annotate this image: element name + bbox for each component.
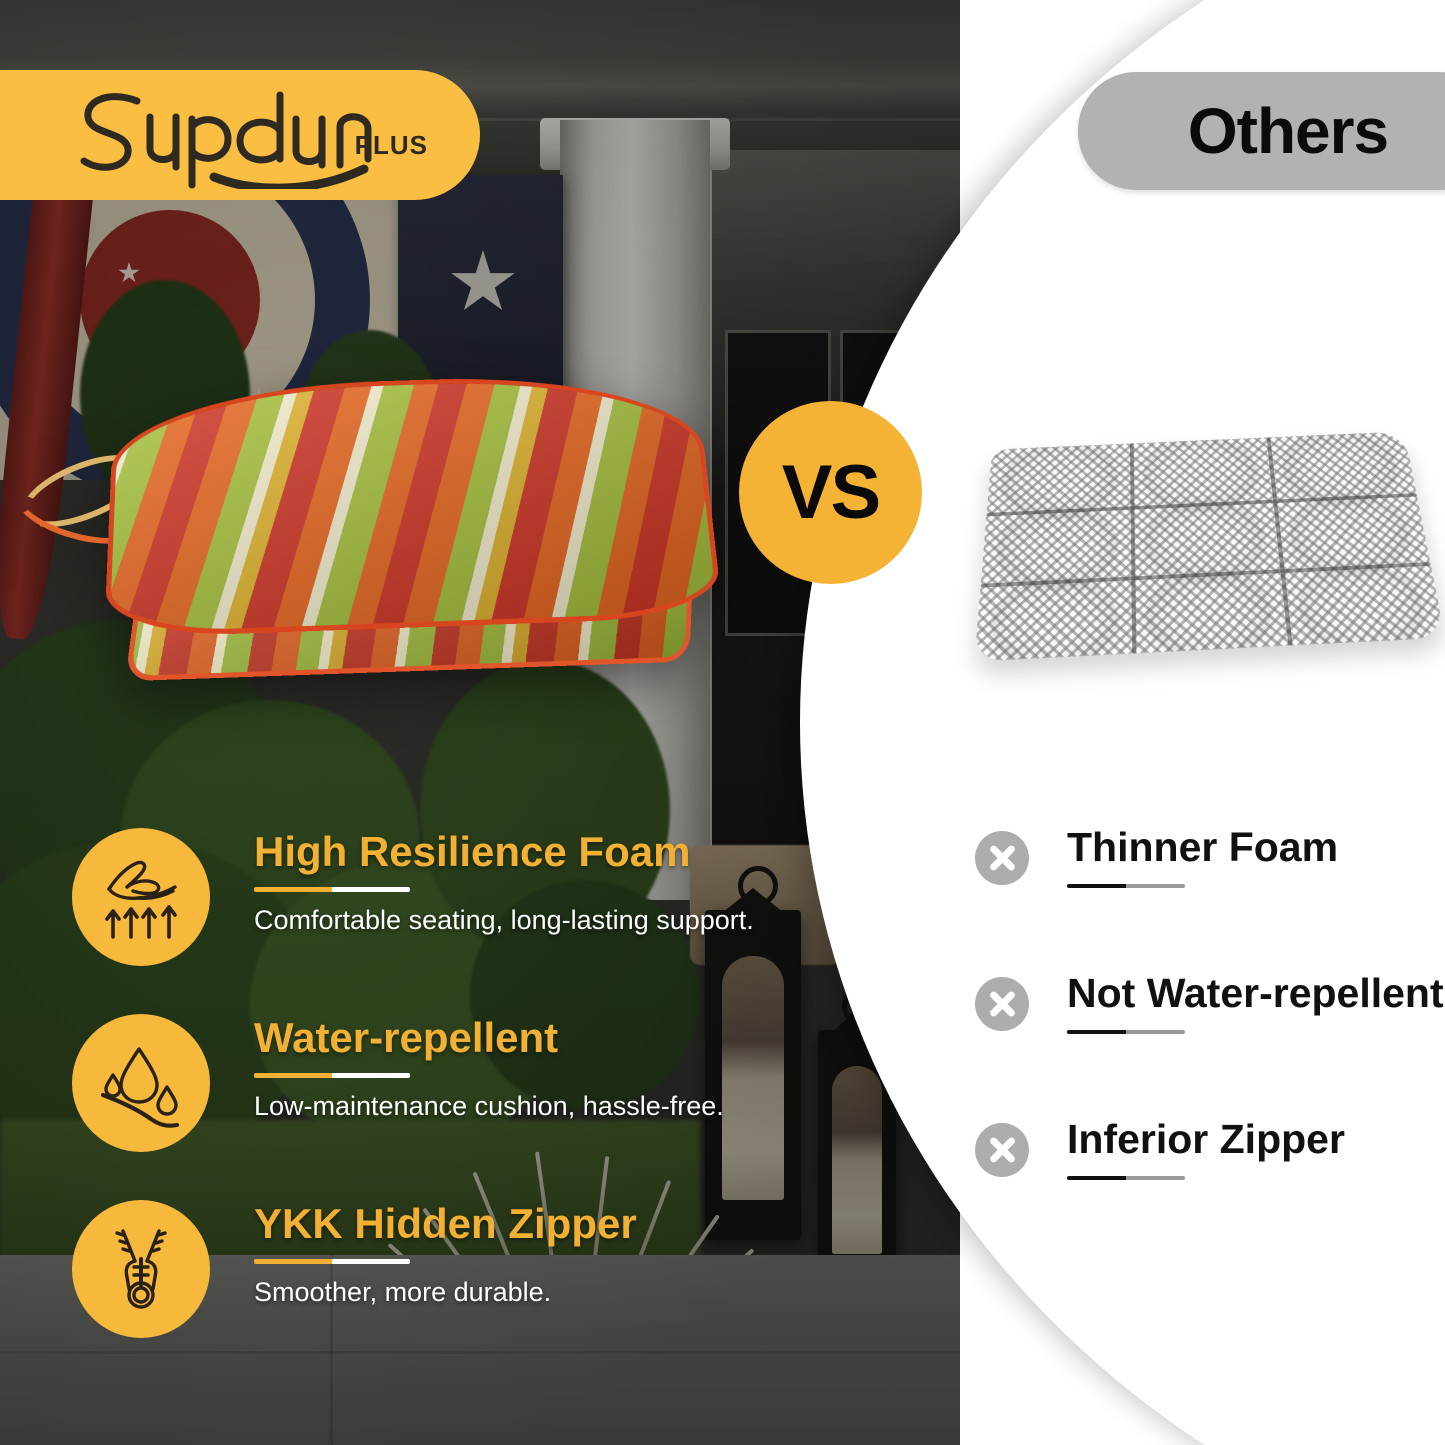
others-label: Others xyxy=(1188,94,1388,168)
con-title: Not Water-repellent xyxy=(1067,971,1445,1016)
con-text-block: Inferior Zipper xyxy=(1067,1117,1445,1180)
feature-divider xyxy=(254,887,410,892)
other-cushion-body xyxy=(974,431,1445,661)
con-title: Inferior Zipper xyxy=(1067,1117,1445,1162)
con-item-inferior-zipper: Inferior Zipper xyxy=(975,1117,1445,1263)
con-title: Thinner Foam xyxy=(1067,825,1445,870)
feature-item-ykk-hidden-zipper: YKK Hidden Zipper Smoother, more durable… xyxy=(72,1192,772,1378)
feature-description: Smoother, more durable. xyxy=(254,1276,774,1308)
cushion-top-surface xyxy=(104,371,723,639)
vs-badge: VS xyxy=(739,401,922,584)
con-text-block: Thinner Foam xyxy=(1067,825,1445,888)
others-badge: Others xyxy=(1078,72,1445,190)
feature-text-block: YKK Hidden Zipper Smoother, more durable… xyxy=(254,1202,774,1308)
feature-text-block: Water-repellent Low-maintenance cushion,… xyxy=(254,1016,774,1122)
water-droplet-repel-icon xyxy=(72,1014,210,1152)
feature-list: High Resilience Foam Comfortable seating… xyxy=(72,820,772,1378)
zipper-icon xyxy=(72,1200,210,1338)
con-divider xyxy=(1067,1030,1185,1034)
feature-divider xyxy=(254,1259,410,1264)
supdun-cushion-image xyxy=(110,375,720,705)
hand-support-arrows-icon xyxy=(72,828,210,966)
competitor-con-list: Thinner Foam Not Water-repellent Inferio… xyxy=(975,825,1445,1263)
brand-logo-badge: PLUS xyxy=(0,70,480,200)
feature-item-high-resilience-foam: High Resilience Foam Comfortable seating… xyxy=(72,820,772,1006)
feature-title: YKK Hidden Zipper xyxy=(254,1202,774,1246)
feature-description: Comfortable seating, long-lasting suppor… xyxy=(254,904,774,936)
circle-x-icon xyxy=(975,977,1029,1031)
brand-logo-mark: PLUS xyxy=(64,81,424,189)
feature-text-block: High Resilience Foam Comfortable seating… xyxy=(254,830,774,936)
feature-title: Water-repellent xyxy=(254,1016,774,1060)
con-text-block: Not Water-repellent xyxy=(1067,971,1445,1034)
con-item-thinner-foam: Thinner Foam xyxy=(975,825,1445,971)
comparison-infographic: PLUS Others xyxy=(0,0,1445,1445)
con-divider xyxy=(1067,1176,1185,1180)
brand-logo-suffix: PLUS xyxy=(355,130,428,161)
circle-x-icon xyxy=(975,831,1029,885)
feature-description: Low-maintenance cushion, hassle-free. xyxy=(254,1090,774,1122)
con-divider xyxy=(1067,884,1185,888)
circle-x-icon xyxy=(975,1123,1029,1177)
con-item-not-water-repellent: Not Water-repellent xyxy=(975,971,1445,1117)
feature-divider xyxy=(254,1073,410,1078)
vs-label: VS xyxy=(782,449,879,536)
other-cushion-image xyxy=(985,398,1437,688)
feature-item-water-repellent: Water-repellent Low-maintenance cushion,… xyxy=(72,1006,772,1192)
feature-title: High Resilience Foam xyxy=(254,830,774,874)
